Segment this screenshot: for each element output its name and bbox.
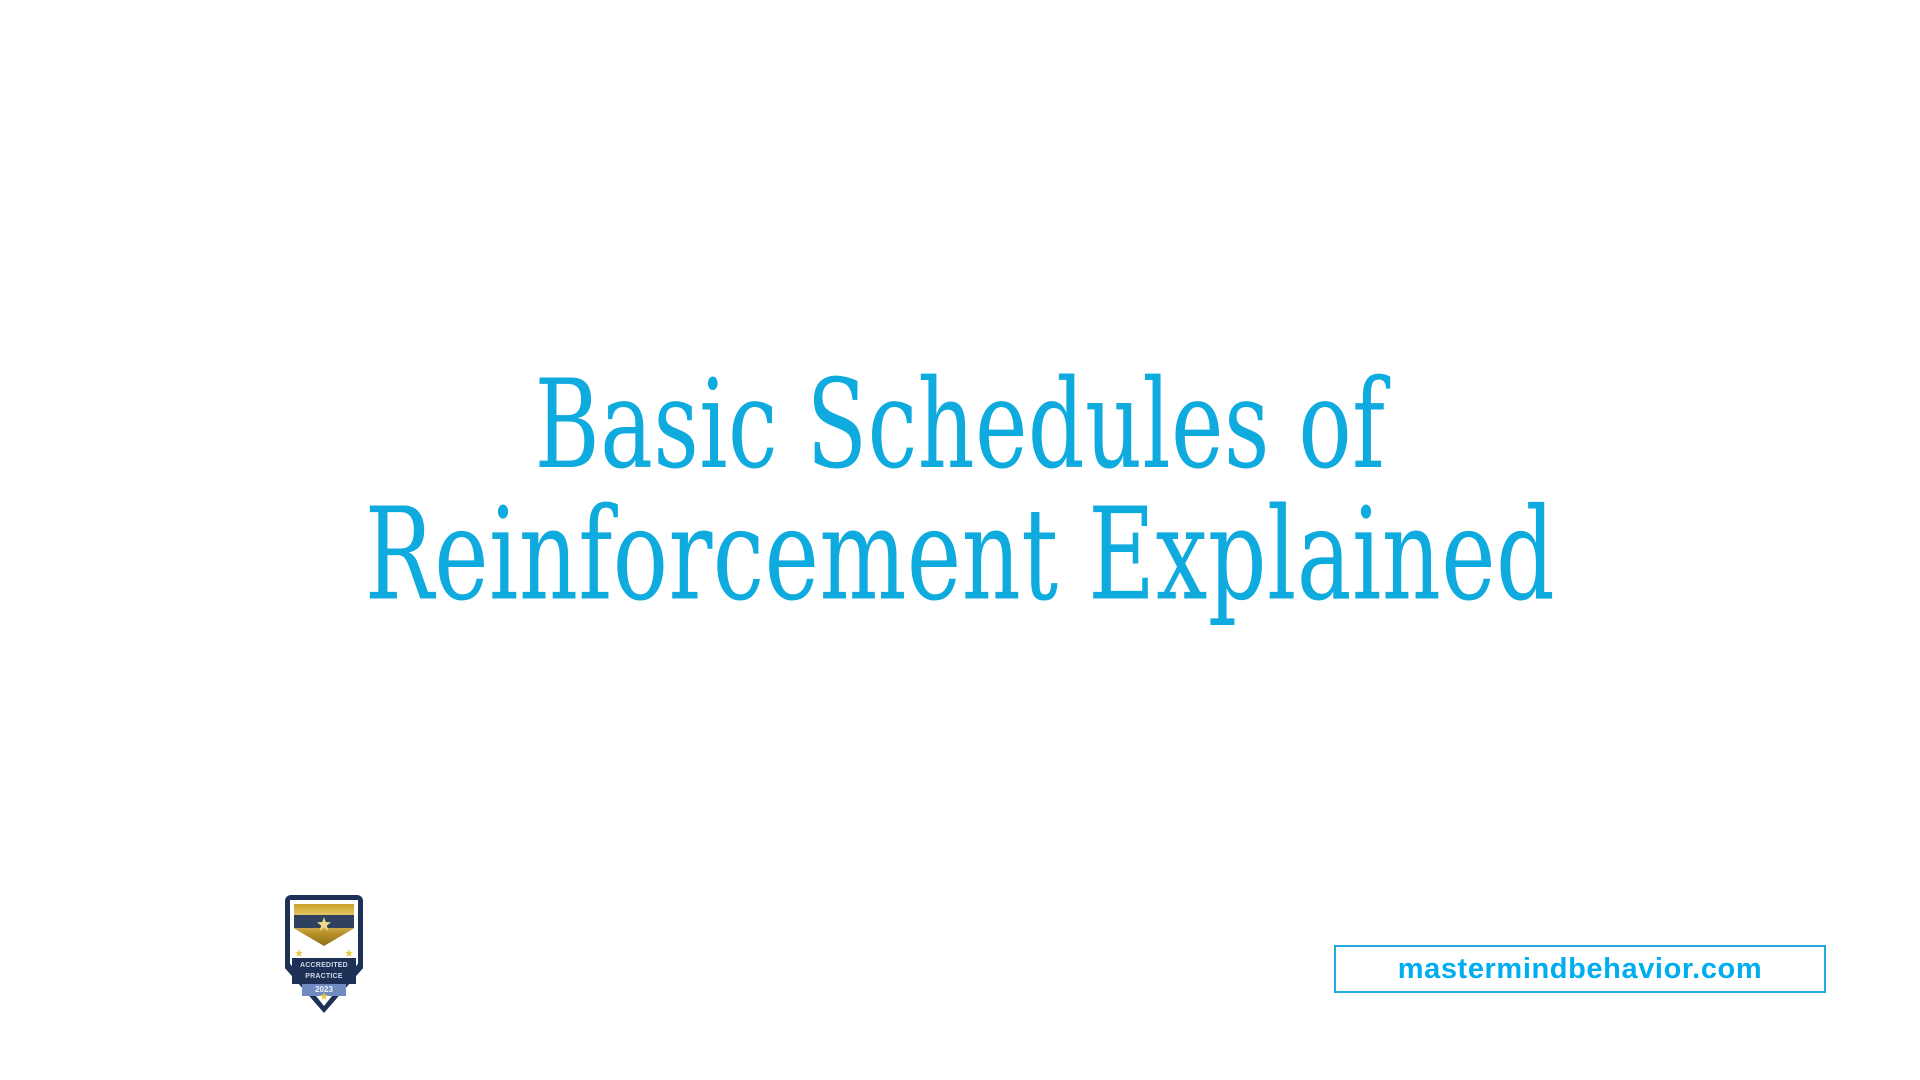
- page-title: Basic Schedules of Reinforcement Explain…: [0, 368, 1920, 616]
- website-url-text: mastermindbehavior.com: [1398, 953, 1763, 986]
- title-line-1: Basic Schedules of: [173, 360, 1747, 493]
- accreditation-label-line-1: ACCREDITED: [292, 960, 356, 971]
- title-line-2: Reinforcement Explained: [173, 486, 1747, 624]
- accreditation-label: ACCREDITED PRACTICE: [292, 958, 356, 984]
- accreditation-label-line-2: PRACTICE: [292, 971, 356, 982]
- website-badge[interactable]: mastermindbehavior.com: [1334, 945, 1826, 993]
- title-slide: Basic Schedules of Reinforcement Explain…: [0, 0, 1920, 1080]
- accreditation-shield-icon: ACCREDITED PRACTICE 2023: [285, 895, 363, 1013]
